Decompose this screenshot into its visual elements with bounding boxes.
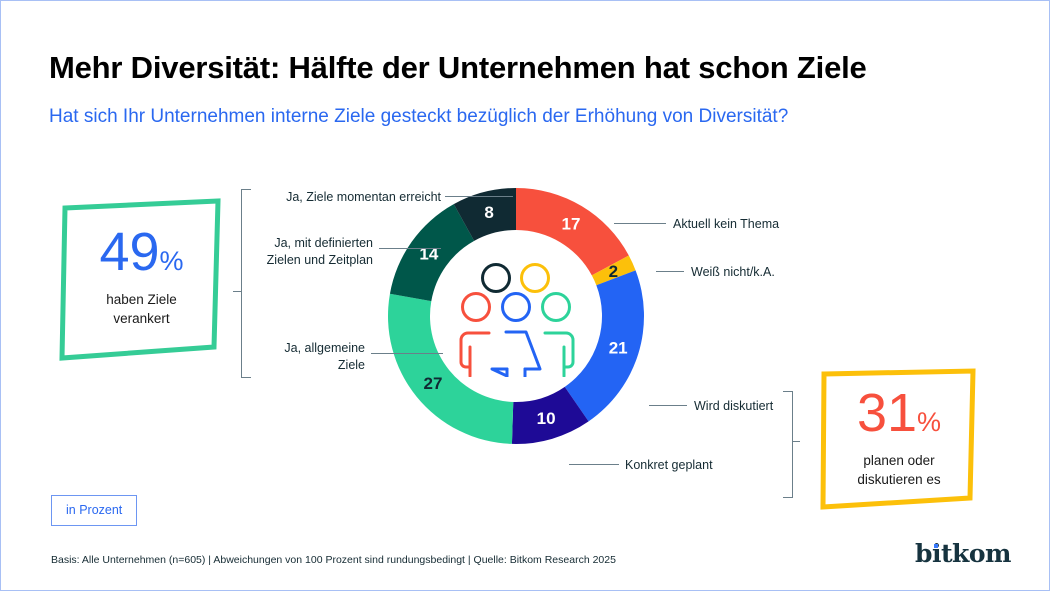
label-text: Konkret geplant [625,458,713,472]
bitkom-logo-text: bitkom [915,539,1011,568]
label-text-line1: Ja, mit definierten [245,235,373,252]
leader-line-allgemeine [371,353,443,354]
leader-line-wird-diskutiert [649,405,687,406]
label-text-line2: Ziele [245,357,365,374]
stat-caption-line1: planen oder [857,452,940,470]
stat-number: 31 [857,383,917,443]
footnote-source: Basis: Alle Unternehmen (n=605) | Abweic… [51,554,616,566]
stat-caption: haben Ziele verankert [106,291,177,327]
label-text: Weiß nicht/k.A. [691,265,775,279]
stat-percent-sign: % [160,246,184,276]
label-allgemeine-ziele: Ja, allgemeine Ziele [245,340,365,373]
bracket-right-tick [792,441,800,442]
label-text-line1: Ja, allgemeine [245,340,365,357]
bracket-left-group [241,189,251,378]
stat-caption-line2: verankert [106,310,177,328]
leader-line-ziele-erreicht [445,196,513,197]
stat-box-haben-ziele: 49% haben Ziele verankert [59,197,224,362]
donut-slice-value: 2 [609,262,618,281]
donut-slice-value: 10 [537,409,556,428]
unit-badge: in Prozent [51,495,137,526]
label-text: Ja, Ziele momentan erreicht [286,190,441,204]
label-mit-definierten-zielen: Ja, mit definierten Zielen und Zeitplan [245,235,373,268]
page-title: Mehr Diversität: Hälfte der Unternehmen … [49,51,1009,85]
donut-slice-value: 27 [423,374,442,393]
stat-number: 49 [99,222,159,282]
stat-caption: planen oder diskutieren es [857,452,940,488]
infographic-page: Mehr Diversität: Hälfte der Unternehmen … [0,0,1050,591]
label-weiss-nicht: Weiß nicht/k.A. [691,264,871,281]
label-text: Aktuell kein Thema [673,217,779,231]
donut-slice-value: 21 [609,338,628,357]
bracket-right-group [783,391,793,498]
bitkom-logo: bitkom [915,539,1011,568]
leader-line-weiss-nicht [656,271,684,272]
label-text: Wird diskutiert [694,399,773,413]
stat-value: 49% [99,225,183,279]
page-subtitle: Hat sich Ihr Unternehmen interne Ziele g… [49,106,1009,129]
donut-slice-value: 17 [562,215,581,234]
label-ziele-momentan-erreicht: Ja, Ziele momentan erreicht [245,189,441,206]
label-text-line2: Zielen und Zeitplan [245,252,373,269]
bitkom-logo-dot [934,544,938,548]
leader-line-mit-definierten [379,248,441,249]
stat-value: 31% [857,386,941,440]
bracket-left-tick [233,291,241,292]
people-group-icon [456,259,578,377]
stat-caption-line2: diskutieren es [857,471,940,489]
stat-box-planen-diskutieren: 31% planen oder diskutieren es [819,367,979,512]
stat-caption-line1: haben Ziele [106,291,177,309]
label-aktuell-kein-thema: Aktuell kein Thema [673,216,853,233]
leader-line-aktuell-kein-thema [614,223,666,224]
label-konkret-geplant: Konkret geplant [625,457,785,474]
donut-slice-value: 8 [484,203,493,222]
leader-line-konkret-geplant [569,464,619,465]
stat-percent-sign: % [917,407,941,437]
